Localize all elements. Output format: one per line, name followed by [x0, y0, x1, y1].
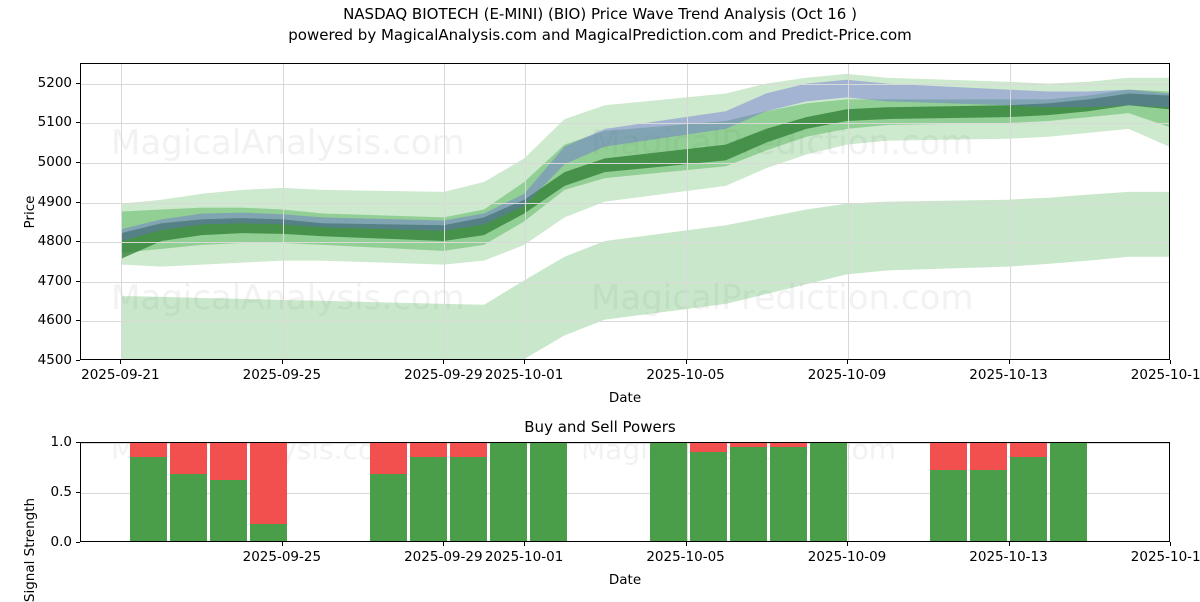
power-bar[interactable]: [450, 442, 487, 541]
x-tick-label: 2025-09-29: [404, 367, 482, 383]
buy-power-segment: [130, 457, 167, 541]
sell-power-segment: [690, 442, 727, 452]
x-tick-label: 2025-09-25: [243, 367, 321, 383]
power-bar[interactable]: [410, 442, 447, 541]
sell-power-segment: [210, 442, 247, 480]
x-tick-mark: [443, 542, 444, 546]
y-tick-label: 4600: [26, 312, 72, 328]
x-tick-mark: [686, 542, 687, 546]
sell-power-segment: [970, 442, 1007, 470]
sell-power-segment: [130, 442, 167, 457]
gridline-vertical: [525, 64, 526, 359]
power-bar[interactable]: [1010, 442, 1047, 541]
gridline-vertical: [687, 64, 688, 359]
power-chart-plot-area: MagicalAnalysis.com MagicalPrediction.co…: [80, 442, 1170, 542]
x-tick-mark: [282, 360, 283, 364]
price-x-axis-label: Date: [609, 390, 641, 406]
gridline-vertical: [848, 443, 849, 541]
chart-title-block: NASDAQ BIOTECH (E-MINI) (BIO) Price Wave…: [0, 4, 1200, 46]
y-tick-mark: [76, 241, 80, 242]
x-tick-mark: [443, 360, 444, 364]
x-tick-label: 2025-10-09: [808, 367, 886, 383]
power-bar[interactable]: [250, 442, 287, 541]
x-tick-mark: [1170, 542, 1171, 546]
y-tick-mark: [76, 122, 80, 123]
x-tick-label: 2025-09-29: [404, 549, 482, 565]
power-bar[interactable]: [130, 442, 167, 541]
power-chart-title: Buy and Sell Powers: [0, 418, 1200, 436]
sell-power-segment: [250, 442, 287, 524]
buy-power-segment: [650, 442, 687, 541]
x-tick-label: 2025-10-17: [1131, 367, 1200, 383]
x-tick-mark: [524, 360, 525, 364]
price-y-axis-label: Price: [22, 196, 38, 229]
page-title: NASDAQ BIOTECH (E-MINI) (BIO) Price Wave…: [0, 4, 1200, 25]
x-tick-mark: [1009, 360, 1010, 364]
gridline-vertical: [283, 64, 284, 359]
sell-power-segment: [410, 442, 447, 457]
y-tick-label: 4800: [26, 233, 72, 249]
buy-power-segment: [810, 442, 847, 541]
buy-power-segment: [530, 442, 567, 541]
sell-power-segment: [930, 442, 967, 470]
power-bar[interactable]: [730, 442, 767, 541]
price-wave-bands: [81, 64, 1169, 359]
gridline-horizontal: [81, 321, 1169, 322]
x-tick-label: 2025-10-01: [485, 549, 563, 565]
y-tick-mark: [76, 442, 80, 443]
y-tick-label: 4500: [26, 352, 72, 368]
y-tick-label: 4700: [26, 273, 72, 289]
x-tick-mark: [847, 360, 848, 364]
price-band-svg: [81, 64, 1169, 359]
x-tick-mark: [524, 542, 525, 546]
power-bar[interactable]: [1050, 442, 1087, 541]
y-tick-mark: [76, 83, 80, 84]
buy-power-segment: [770, 447, 807, 541]
x-tick-label: 2025-09-21: [81, 367, 159, 383]
x-tick-label: 2025-10-09: [808, 549, 886, 565]
y-tick-mark: [76, 281, 80, 282]
sell-power-segment: [170, 442, 207, 474]
gridline-horizontal: [81, 123, 1169, 124]
x-tick-mark: [686, 360, 687, 364]
buy-power-segment: [170, 474, 207, 541]
gridline-vertical: [1010, 64, 1011, 359]
x-tick-mark: [120, 360, 121, 364]
x-tick-mark: [847, 542, 848, 546]
power-x-axis-label: Date: [609, 572, 641, 588]
gridline-vertical: [848, 64, 849, 359]
power-bar[interactable]: [490, 442, 527, 541]
gridline-horizontal: [81, 203, 1169, 204]
sell-power-segment: [1010, 442, 1047, 457]
y-tick-mark: [76, 542, 80, 543]
buy-power-segment: [210, 480, 247, 541]
y-tick-label: 1.0: [26, 434, 72, 450]
gridline-horizontal: [81, 84, 1169, 85]
sell-power-segment: [450, 442, 487, 457]
buy-power-segment: [1010, 457, 1047, 541]
gridline-horizontal: [81, 242, 1169, 243]
power-bar[interactable]: [770, 442, 807, 541]
x-tick-label: 2025-10-13: [969, 549, 1047, 565]
buy-power-segment: [410, 457, 447, 541]
power-bar[interactable]: [810, 442, 847, 541]
power-bar[interactable]: [210, 442, 247, 541]
x-tick-mark: [1170, 360, 1171, 364]
y-tick-label: 5000: [26, 154, 72, 170]
power-bar[interactable]: [930, 442, 967, 541]
x-tick-label: 2025-10-13: [969, 367, 1047, 383]
buy-power-segment: [690, 452, 727, 541]
x-tick-label: 2025-10-17: [1131, 549, 1200, 565]
y-tick-mark: [76, 320, 80, 321]
y-tick-label: 5200: [26, 75, 72, 91]
y-tick-mark: [76, 202, 80, 203]
buy-power-segment: [370, 474, 407, 541]
buy-power-segment: [450, 457, 487, 541]
y-tick-mark: [76, 162, 80, 163]
x-tick-label: 2025-09-25: [243, 549, 321, 565]
power-bar[interactable]: [530, 442, 567, 541]
buy-power-segment: [930, 470, 967, 541]
x-tick-label: 2025-10-01: [485, 367, 563, 383]
power-bar[interactable]: [370, 442, 407, 541]
buy-power-segment: [250, 524, 287, 541]
price-chart-plot-area: MagicalAnalysis.com MagicalPrediction.co…: [80, 63, 1170, 360]
x-tick-label: 2025-10-05: [646, 549, 724, 565]
power-y-axis-label: Signal Strength: [22, 498, 38, 602]
gridline-horizontal: [81, 282, 1169, 283]
sell-power-segment: [370, 442, 407, 474]
chart-page: NASDAQ BIOTECH (E-MINI) (BIO) Price Wave…: [0, 0, 1200, 600]
gridline-vertical: [444, 64, 445, 359]
x-tick-mark: [282, 542, 283, 546]
gridline-horizontal: [81, 163, 1169, 164]
buy-power-segment: [730, 447, 767, 541]
buy-power-segment: [1050, 442, 1087, 541]
gridline-vertical: [121, 64, 122, 359]
buy-power-segment: [490, 442, 527, 541]
x-tick-mark: [1009, 542, 1010, 546]
power-bar[interactable]: [650, 442, 687, 541]
y-tick-mark: [76, 492, 80, 493]
power-bar[interactable]: [170, 442, 207, 541]
y-tick-mark: [76, 360, 80, 361]
power-bar[interactable]: [690, 442, 727, 541]
buy-power-segment: [970, 470, 1007, 541]
y-tick-label: 5100: [26, 114, 72, 130]
power-bar[interactable]: [970, 442, 1007, 541]
x-tick-label: 2025-10-05: [646, 367, 724, 383]
page-subtitle: powered by MagicalAnalysis.com and Magic…: [0, 25, 1200, 46]
